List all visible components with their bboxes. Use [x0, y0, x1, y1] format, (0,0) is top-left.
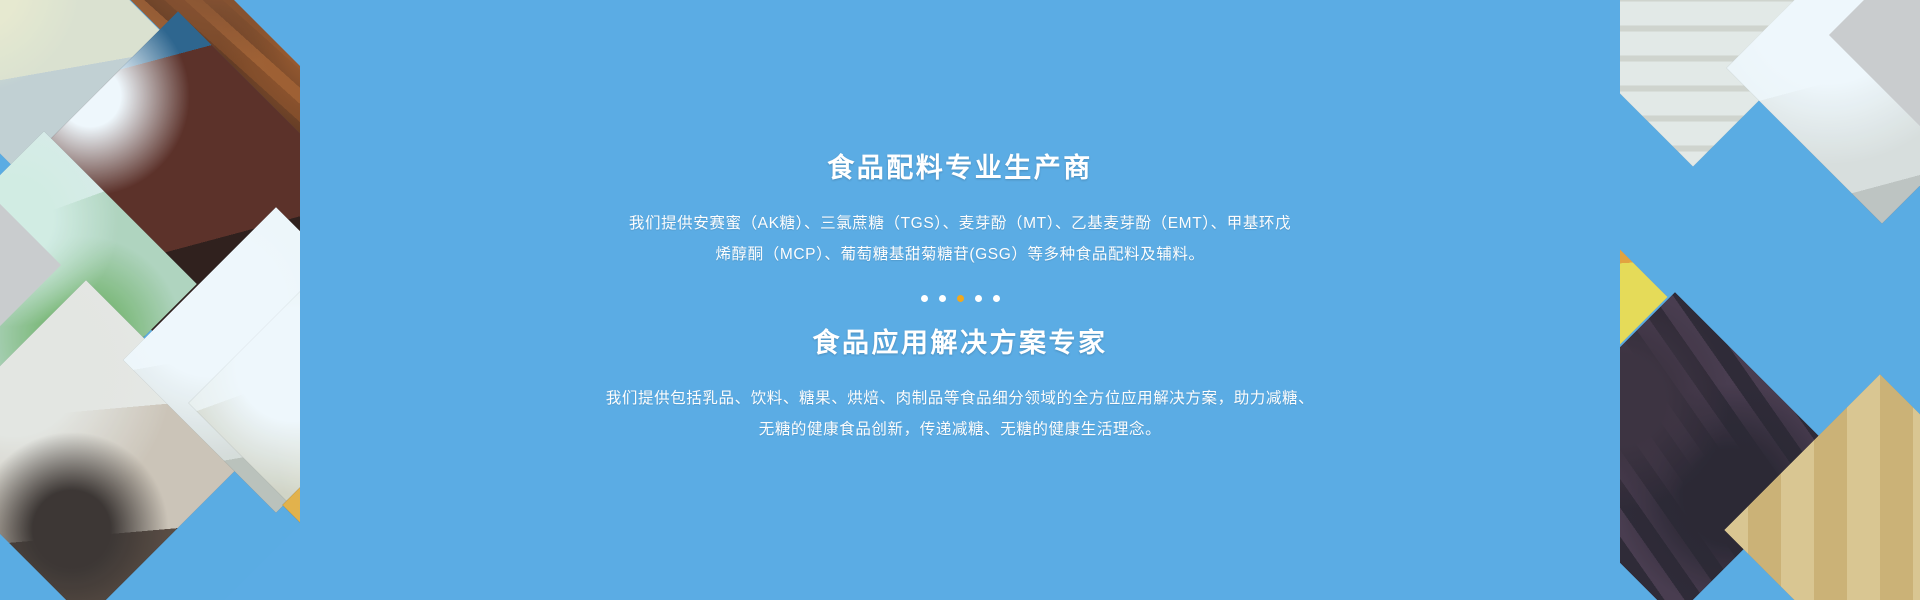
section-block-1: 食品配料专业生产商 我们提供安赛蜜（AK糖）、三氯蔗糖（TGS）、麦芽酚（MT）…: [410, 155, 1510, 270]
paragraph-solutions-line-2: 无糖的健康食品创新，传递减糖、无糖的健康生活理念。: [410, 414, 1510, 445]
section-block-2: 食品应用解决方案专家 我们提供包括乳品、饮料、糖果、烘焙、肉制品等食品细分领域的…: [410, 330, 1510, 445]
paragraph-producer-line-1: 我们提供安赛蜜（AK糖）、三氯蔗糖（TGS）、麦芽酚（MT）、乙基麦芽酚（EMT…: [410, 208, 1510, 239]
banner-content: 食品配料专业生产商 我们提供安赛蜜（AK糖）、三氯蔗糖（TGS）、麦芽酚（MT）…: [0, 0, 1920, 600]
headline-solutions: 食品应用解决方案专家: [410, 330, 1510, 357]
dot-separator: [921, 292, 1000, 304]
separator-dot: [939, 295, 946, 302]
headline-producer: 食品配料专业生产商: [410, 155, 1510, 182]
separator-dot: [921, 295, 928, 302]
banner: 食品配料专业生产商 我们提供安赛蜜（AK糖）、三氯蔗糖（TGS）、麦芽酚（MT）…: [0, 0, 1920, 600]
separator-dot-active: [957, 295, 964, 302]
paragraph-producer-line-2: 烯醇酮（MCP）、葡萄糖基甜菊糖苷(GSG）等多种食品配料及辅料。: [410, 239, 1510, 270]
separator-dot: [975, 295, 982, 302]
paragraph-solutions-line-1: 我们提供包括乳品、饮料、糖果、烘焙、肉制品等食品细分领域的全方位应用解决方案，助…: [410, 383, 1510, 414]
separator-dot: [993, 295, 1000, 302]
